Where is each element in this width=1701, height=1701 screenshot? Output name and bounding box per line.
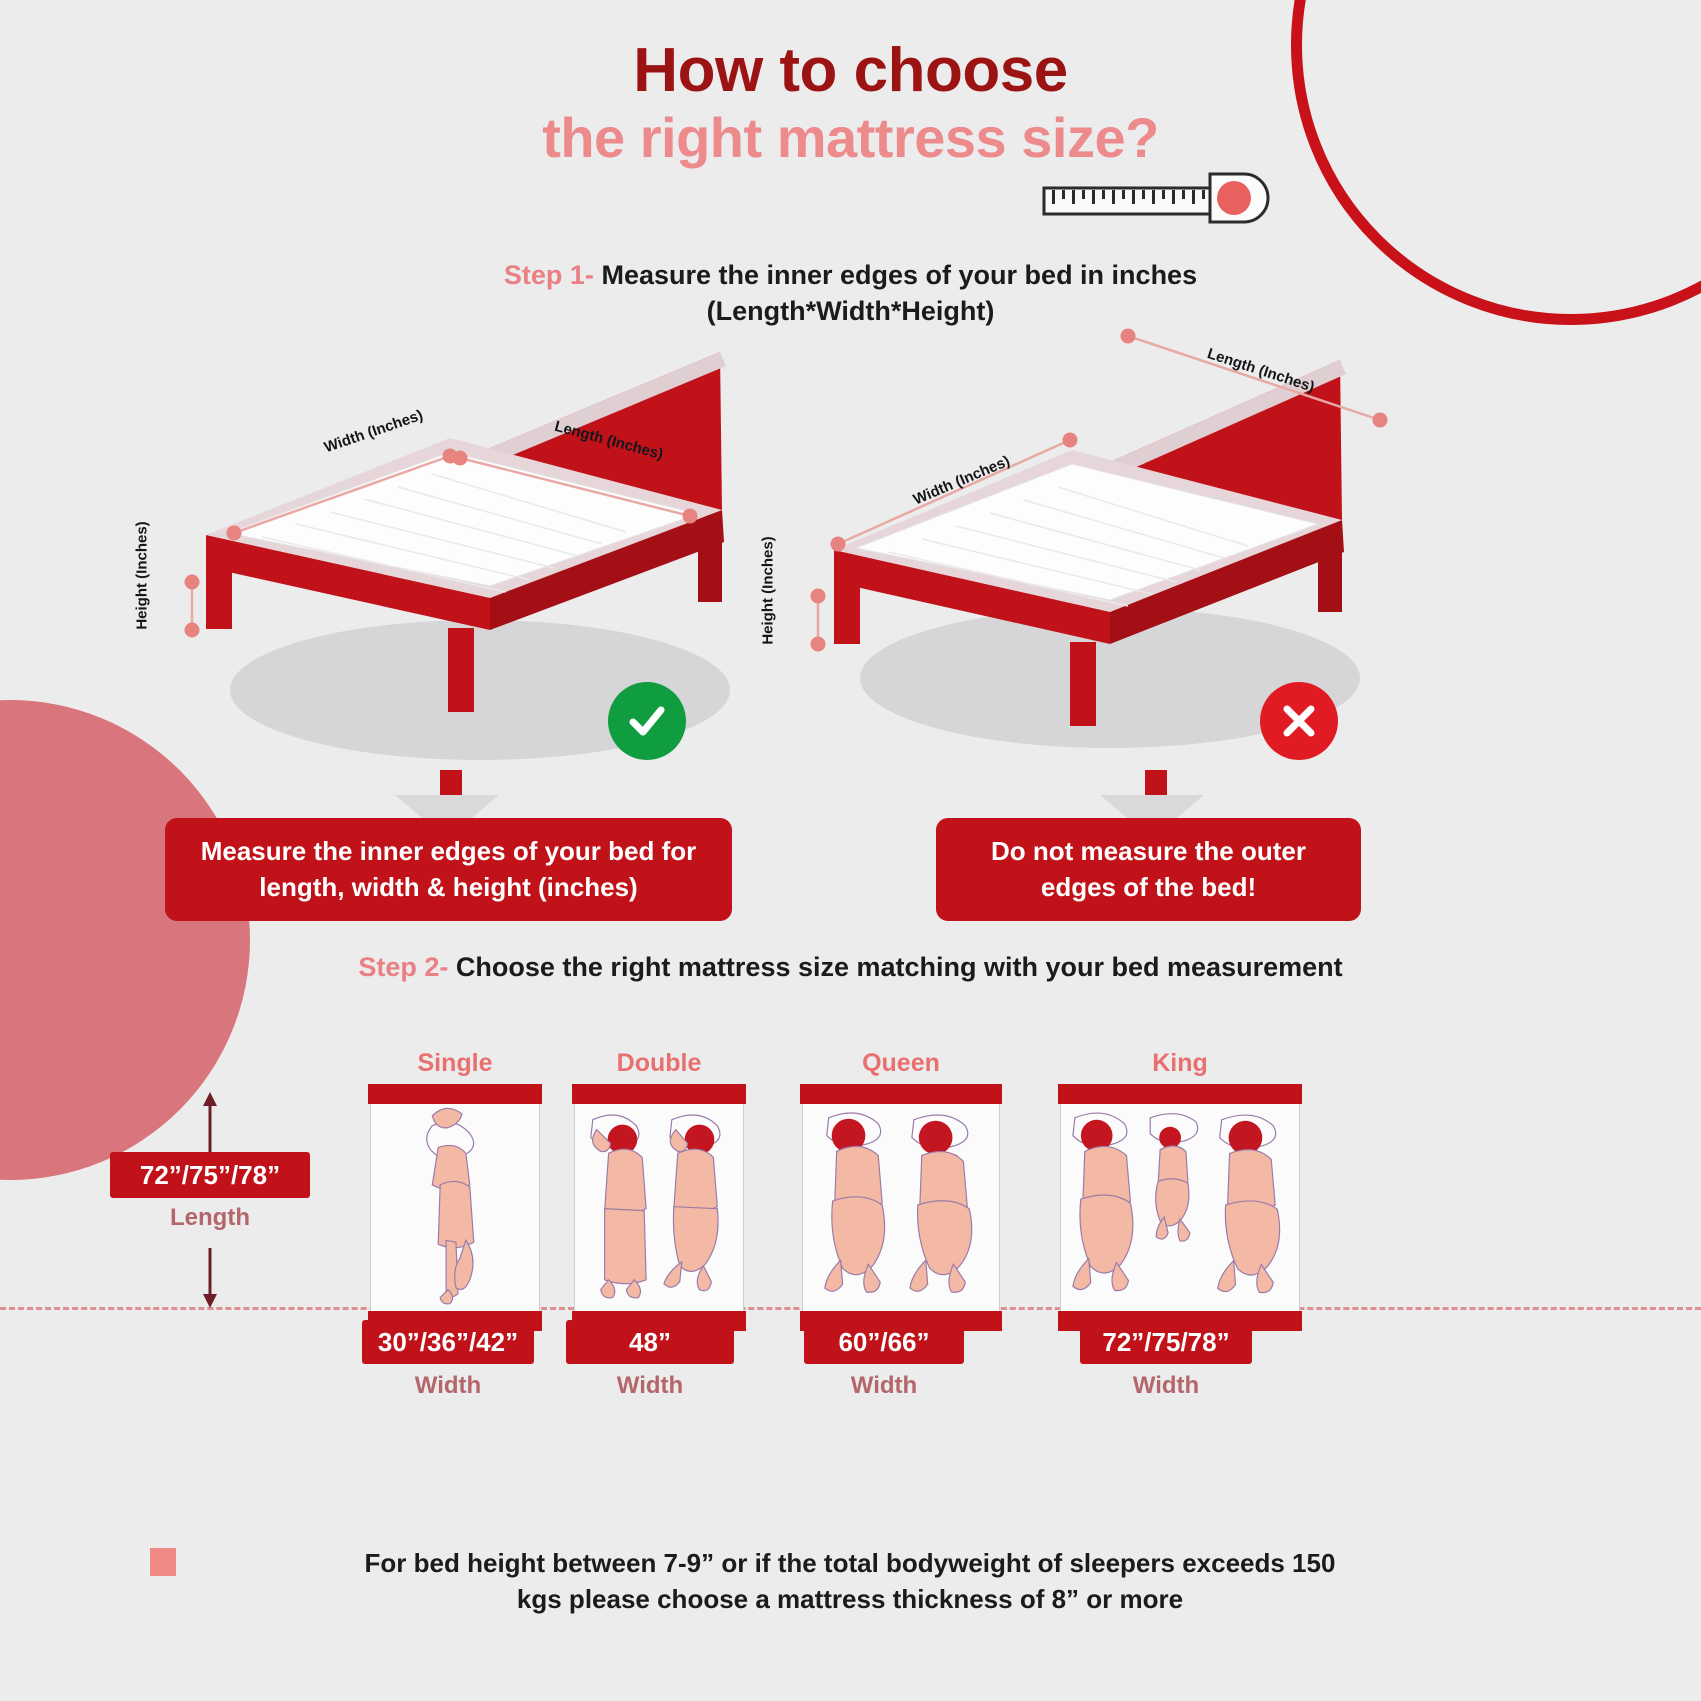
sleeper-illustration-queen	[803, 1096, 999, 1319]
cross-mark-icon	[1260, 682, 1338, 760]
callout-correct: Measure the inner edges of your bed for …	[165, 818, 732, 921]
step-1-text: Measure the inner edges of your bed in i…	[601, 260, 1197, 290]
double-arrow-vertical-icon	[185, 1090, 235, 1310]
title-line-2: the right mattress size?	[0, 107, 1701, 169]
step-1-label: Step 1-	[504, 260, 594, 290]
size-label-double: Double	[574, 1049, 744, 1078]
length-value-badge: 72”/75”/78”	[110, 1152, 310, 1198]
width-badge-king: 72”/75/78”	[1080, 1320, 1252, 1364]
step-2-label: Step 2-	[358, 952, 448, 982]
width-caption-queen: Width	[804, 1372, 964, 1400]
footer-line-2: kgs please choose a mattress thickness o…	[150, 1581, 1550, 1617]
bed-label-height-left: Height (Inches)	[134, 521, 151, 629]
bed-panel-single	[370, 1095, 540, 1320]
footer-line-1: For bed height between 7-9” or if the to…	[150, 1545, 1550, 1581]
size-label-queen: Queen	[802, 1049, 1000, 1078]
measuring-tape-icon	[1042, 160, 1272, 232]
check-mark-icon	[608, 682, 686, 760]
step-2-instruction: Step 2- Choose the right mattress size m…	[0, 952, 1701, 983]
bed-diagram-correct: Width (Inches) Length (Inches) Height (I…	[150, 330, 790, 780]
sleeper-illustration-single	[371, 1096, 539, 1318]
width-caption-king: Width	[1080, 1372, 1252, 1400]
page-title: How to choose the right mattress size?	[0, 38, 1701, 169]
title-line-1: How to choose	[0, 38, 1701, 103]
sleeper-illustration-king	[1061, 1096, 1299, 1319]
footer-note: For bed height between 7-9” or if the to…	[150, 1545, 1550, 1618]
infographic-canvas: How to choose the right mattress size? S…	[0, 0, 1701, 1701]
callout-incorrect: Do not measure the outer edges of the be…	[936, 818, 1361, 921]
bed-label-height-right: Height (Inches)	[760, 536, 777, 644]
width-caption-double: Width	[566, 1372, 734, 1400]
size-label-single: Single	[370, 1049, 540, 1078]
step-2-text: Choose the right mattress size matching …	[456, 952, 1343, 982]
width-badge-double: 48”	[566, 1320, 734, 1364]
mattress-size-grid: Single Double	[370, 1095, 1300, 1320]
bed-panel-double	[574, 1095, 744, 1320]
bed-panel-queen	[802, 1095, 1000, 1320]
width-badge-queen: 60”/66”	[804, 1320, 964, 1364]
bed-panel-king	[1060, 1095, 1300, 1320]
sleeper-illustration-double	[575, 1096, 743, 1318]
size-label-king: King	[1060, 1049, 1300, 1078]
length-caption: Length	[110, 1204, 310, 1232]
width-caption-single: Width	[362, 1372, 534, 1400]
width-badge-single: 30”/36”/42”	[362, 1320, 534, 1364]
